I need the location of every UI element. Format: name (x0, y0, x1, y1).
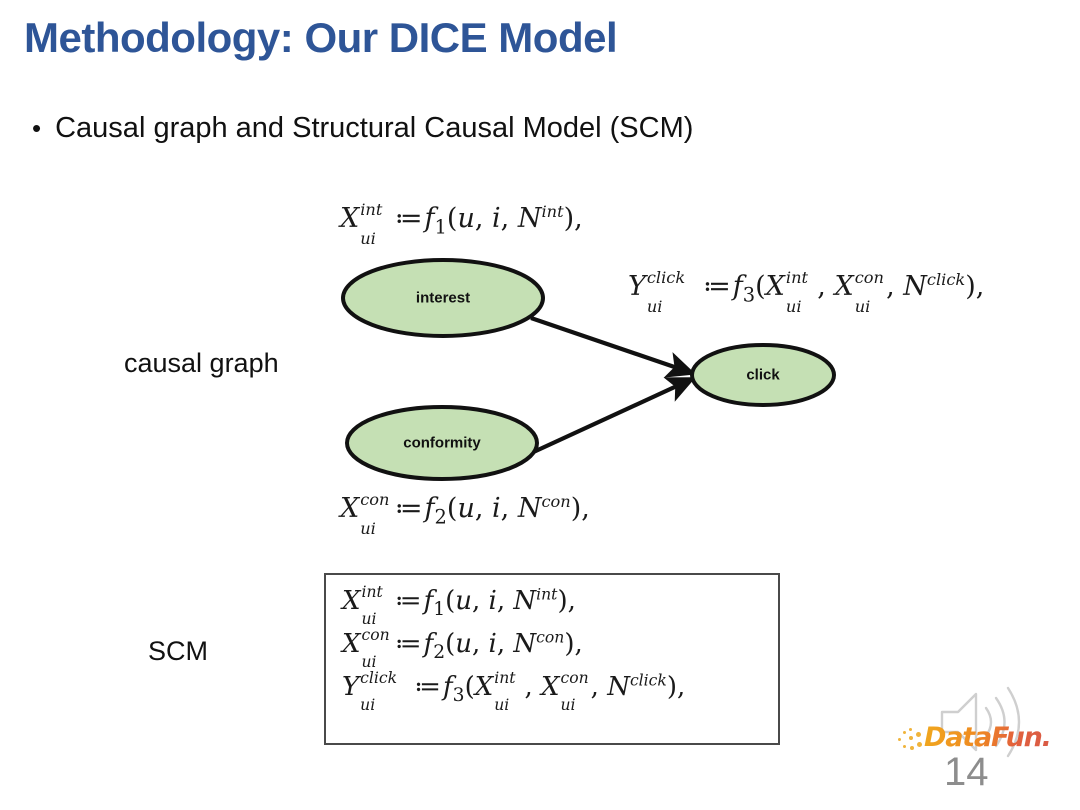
logo-dots-icon (898, 728, 926, 754)
node-interest-label: interest (416, 290, 470, 307)
scm-equation-interest: Xintui≔f1(u, i, Nint), (342, 588, 685, 614)
bullet-marker-icon: • (32, 115, 41, 141)
edge-interest-to-click (531, 318, 692, 373)
scm-equation-conformity: Xconui≔f2(u, i, Ncon), (342, 631, 685, 657)
page-title: Methodology: Our DICE Model (24, 14, 617, 62)
causal-graph-label: causal graph (124, 348, 279, 379)
scm-label: SCM (148, 636, 208, 667)
equation-interest: Xintui≔f1(u, i, Nint), (340, 205, 583, 232)
equation-conformity: Xconui≔f2(u, i, Ncon), (340, 495, 590, 522)
edge-conformity-to-click (527, 379, 692, 455)
page-number: 14 (944, 750, 989, 795)
bullet-item: • Causal graph and Structural Causal Mod… (32, 112, 693, 145)
equation-click: Yclickui≔f3(Xintui, Xconui, Nclick), (628, 273, 984, 300)
datafun-logo-text: DataFun. (924, 722, 1051, 753)
node-click-label: click (746, 367, 779, 384)
node-conformity-label: conformity (403, 435, 481, 452)
scm-equation-click: Yclickui≔f3(Xintui, Xconui, Nclick), (342, 674, 685, 700)
scm-equation-list: Xintui≔f1(u, i, Nint), Xconui≔f2(u, i, N… (342, 588, 685, 700)
bullet-item-label: Causal graph and Structural Causal Model… (55, 112, 693, 145)
